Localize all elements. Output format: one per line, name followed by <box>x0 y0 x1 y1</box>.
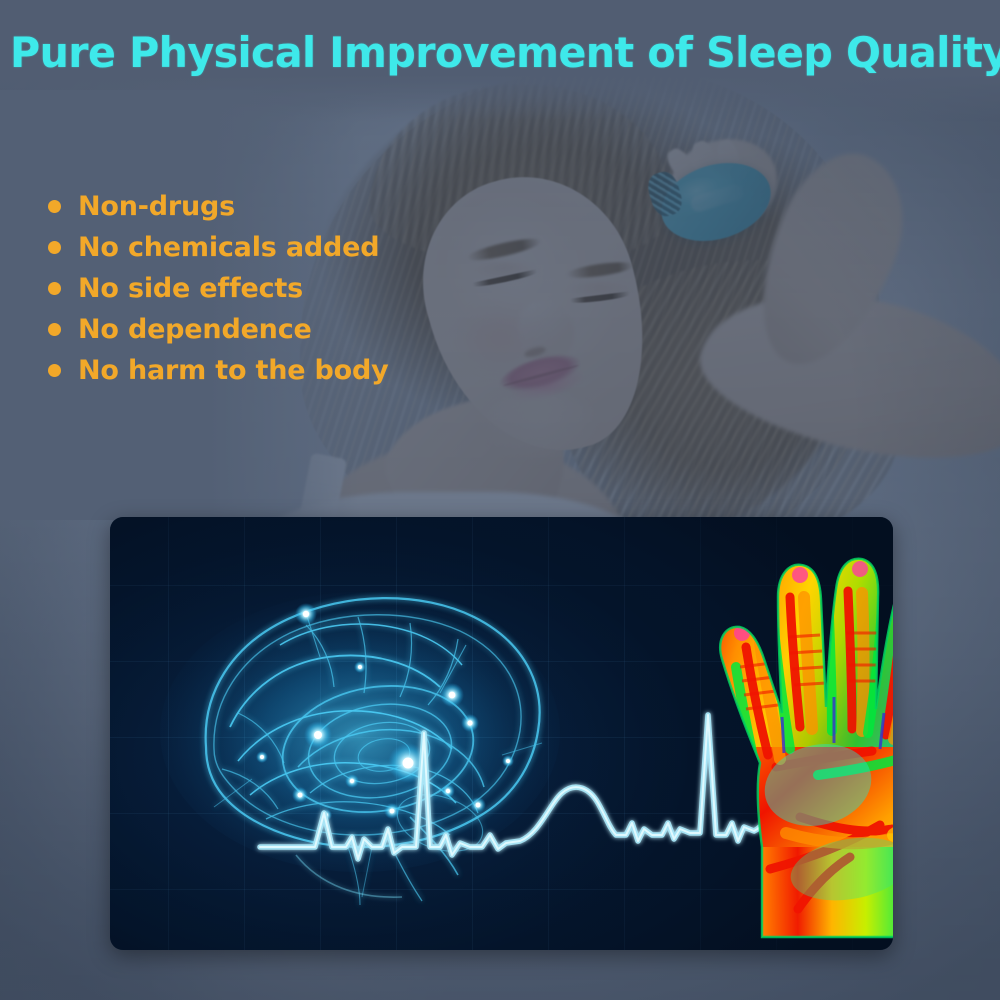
poster-root: Pure Physical Improvement of Sleep Quali… <box>0 0 1000 1000</box>
bullet-dot-icon <box>48 200 61 213</box>
list-item: No chemicals added <box>48 227 468 268</box>
benefit-label: No chemicals added <box>78 232 379 263</box>
bullet-dot-icon <box>48 282 61 295</box>
benefit-label: No harm to the body <box>78 355 389 386</box>
benefit-label: No side effects <box>78 273 303 304</box>
list-item: No harm to the body <box>48 350 468 391</box>
list-item: No side effects <box>48 268 468 309</box>
benefits-list: Non-drugs No chemicals added No side eff… <box>48 186 468 391</box>
list-item: Non-drugs <box>48 186 468 227</box>
tech-panel-graphics <box>110 517 893 950</box>
bullet-dot-icon <box>48 364 61 377</box>
benefit-label: Non-drugs <box>78 191 235 222</box>
benefit-label: No dependence <box>78 314 312 345</box>
bullet-dot-icon <box>48 241 61 254</box>
list-item: No dependence <box>48 309 468 350</box>
page-title: Pure Physical Improvement of Sleep Quali… <box>10 28 990 77</box>
bullet-dot-icon <box>48 323 61 336</box>
tech-diagram-panel <box>110 517 893 950</box>
